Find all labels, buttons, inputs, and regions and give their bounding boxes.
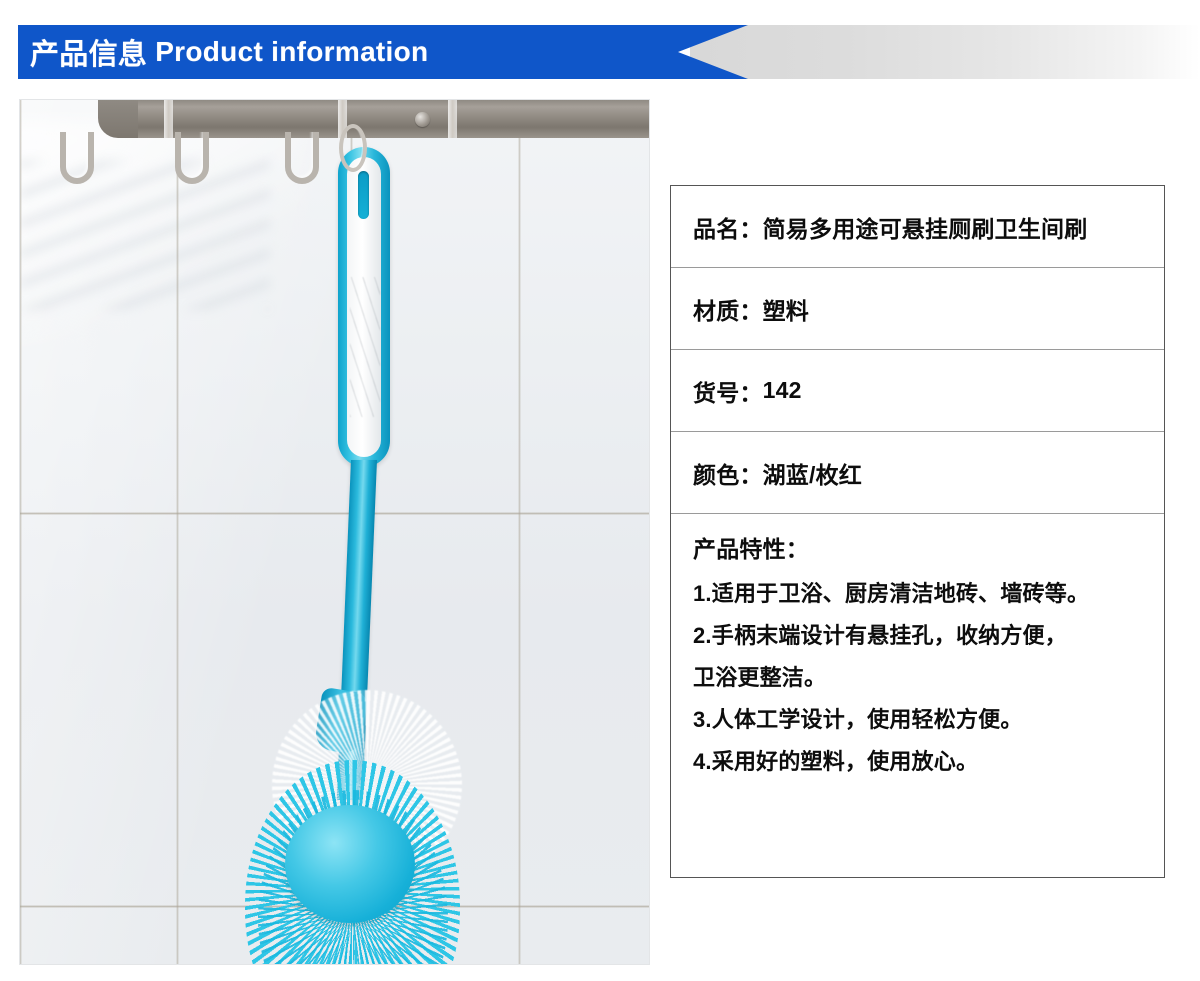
rack-hook [285,132,319,184]
grout-line-vertical [176,100,179,964]
page-title-en: Product information [155,36,428,68]
banner-gray-tail [690,25,1200,79]
rack-hook [60,132,94,184]
feature-line: 卫浴更整洁。 [693,657,1142,699]
feature-line: 1.适用于卫浴、厨房清洁地砖、墙砖等。 [693,573,1142,615]
product-spec-table: 品名： 简易多用途可悬挂厕刷卫生间刷 材质： 塑料 货号： 142 颜色： 湖蓝… [670,185,1165,878]
brush-handle-white-panel [347,157,381,457]
table-row: 品名： 简易多用途可悬挂厕刷卫生间刷 [671,186,1164,268]
spec-value-color: 湖蓝/枚红 [763,456,862,490]
page-title-cn: 产品信息 [30,31,147,73]
grout-line-vertical [518,100,521,964]
table-row: 颜色： 湖蓝/枚红 [671,432,1164,514]
brush-hanging-hole [358,171,369,219]
table-row: 货号： 142 [671,350,1164,432]
spec-label-material: 材质： [693,292,763,326]
spec-value-material: 塑料 [763,292,809,326]
feature-line: 3.人体工学设计，使用轻松方便。 [693,699,1142,741]
spec-label-itemno: 货号： [693,374,763,408]
features-title: 产品特性： [693,532,1142,567]
spec-value-itemno: 142 [763,377,802,404]
brand-script-logo [350,277,380,417]
table-row: 材质： 塑料 [671,268,1164,350]
rack-screw-icon [415,112,430,127]
spec-label-name: 品名： [693,210,763,244]
feature-line: 2.手柄末端设计有悬挂孔，收纳方便， [693,615,1142,657]
product-photo [19,99,650,965]
rack-rib [448,100,457,138]
feature-line: 4.采用好的塑料，使用放心。 [693,741,1142,783]
table-row-features: 产品特性： 1.适用于卫浴、厨房清洁地砖、墙砖等。 2.手柄末端设计有悬挂孔，收… [671,514,1164,879]
spec-value-name: 简易多用途可悬挂厕刷卫生间刷 [763,210,1088,244]
spec-label-color: 颜色： [693,456,763,490]
metal-hanging-ring [339,124,367,172]
grout-line-vertical [19,100,22,964]
wall-blind-shadow [20,160,270,310]
rack-rib [164,100,173,138]
rack-hook [175,132,209,184]
brush-handle-upper [338,147,390,467]
page-header-banner: 产品信息 Product information [0,25,1200,79]
page-title: 产品信息 Product information [30,25,428,79]
brush-head-disc [285,805,415,923]
grout-line-horizontal [20,512,649,515]
